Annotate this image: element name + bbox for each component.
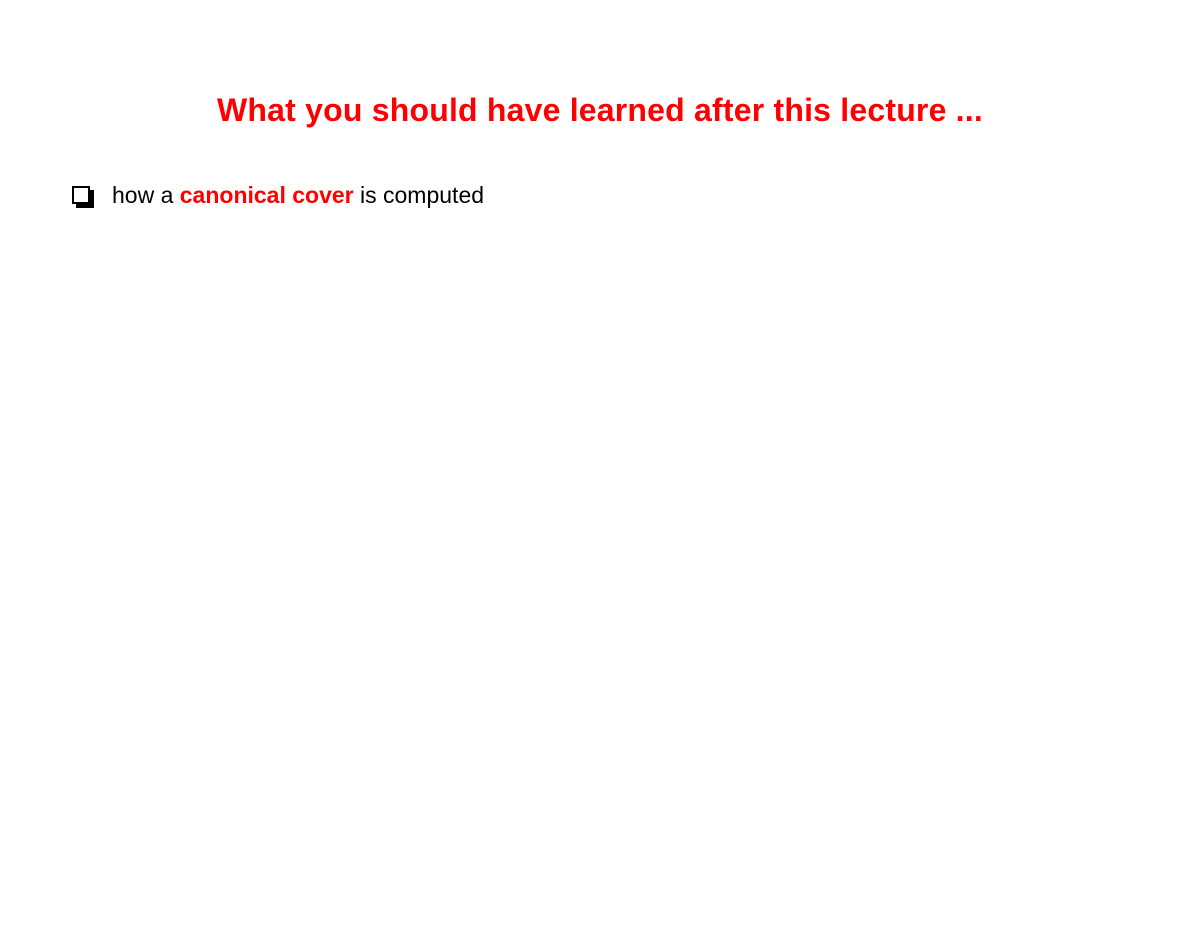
page-title: What you should have learned after this … [0, 90, 1200, 130]
hollow-square-bullet-icon [70, 180, 112, 210]
list-item-text: how a canonical cover is computed [112, 180, 1130, 210]
list-item-text-lead: how a [112, 182, 180, 208]
bullet-square [72, 186, 90, 204]
list-item-text-emphasis: canonical cover [180, 182, 354, 208]
list-item-text-tail: is computed [354, 182, 484, 208]
list-item: how a canonical cover is computed [70, 180, 1130, 210]
bullet-list: how a canonical cover is computed [70, 180, 1130, 210]
slide-canvas: What you should have learned after this … [0, 0, 1200, 927]
